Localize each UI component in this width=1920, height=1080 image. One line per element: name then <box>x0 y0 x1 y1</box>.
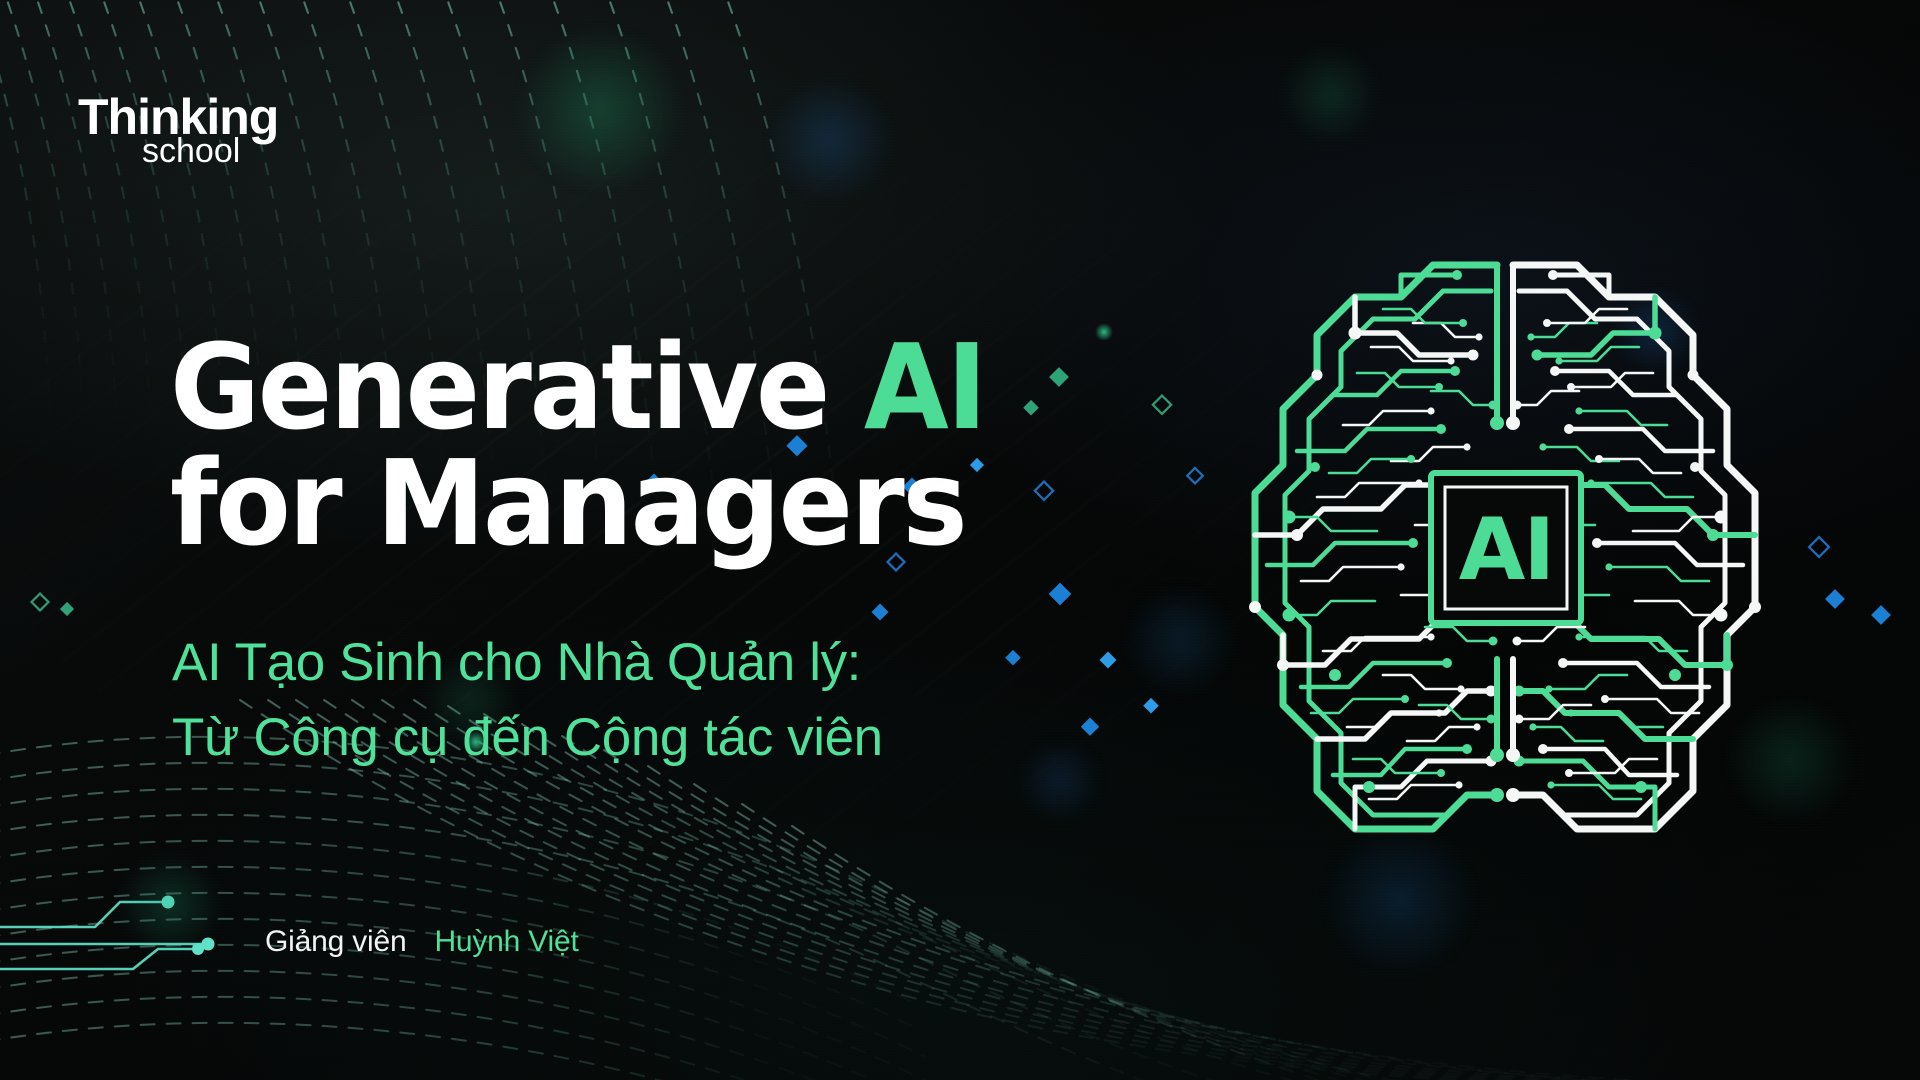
instructor-name: Huỳnh Việt <box>434 925 578 959</box>
title-line-2: for Managers <box>170 446 1100 562</box>
slide-subtitle: AI Tạo Sinh cho Nhà Quản lý: Từ Công cụ … <box>172 625 1172 776</box>
thinking-school-logo[interactable]: Thinking school <box>78 92 278 168</box>
subtitle-line-1: AI Tạo Sinh cho Nhà Quản lý: <box>172 625 1172 700</box>
slide-title: Generative AI for Managers <box>170 330 1170 561</box>
subtitle-line-2: Từ Công cụ đến Cộng tác viên <box>172 700 1172 775</box>
title-line-1: Generative AI <box>170 330 1100 446</box>
ai-chip: AI <box>1431 473 1581 623</box>
circuit-trace-terminals <box>162 896 215 956</box>
instructor-label: Giảng viên <box>265 925 406 959</box>
presentation-slide: Thinking school Generative AI for Manage… <box>0 0 1920 1080</box>
ai-chip-label: AI <box>1459 500 1554 600</box>
circuit-traces-bottom-left <box>0 902 205 969</box>
instructor-credit: Giảng viên Huỳnh Việt <box>265 925 579 959</box>
brain-svg: AI <box>1205 235 1805 875</box>
ai-circuit-brain: AI <box>1205 235 1805 875</box>
